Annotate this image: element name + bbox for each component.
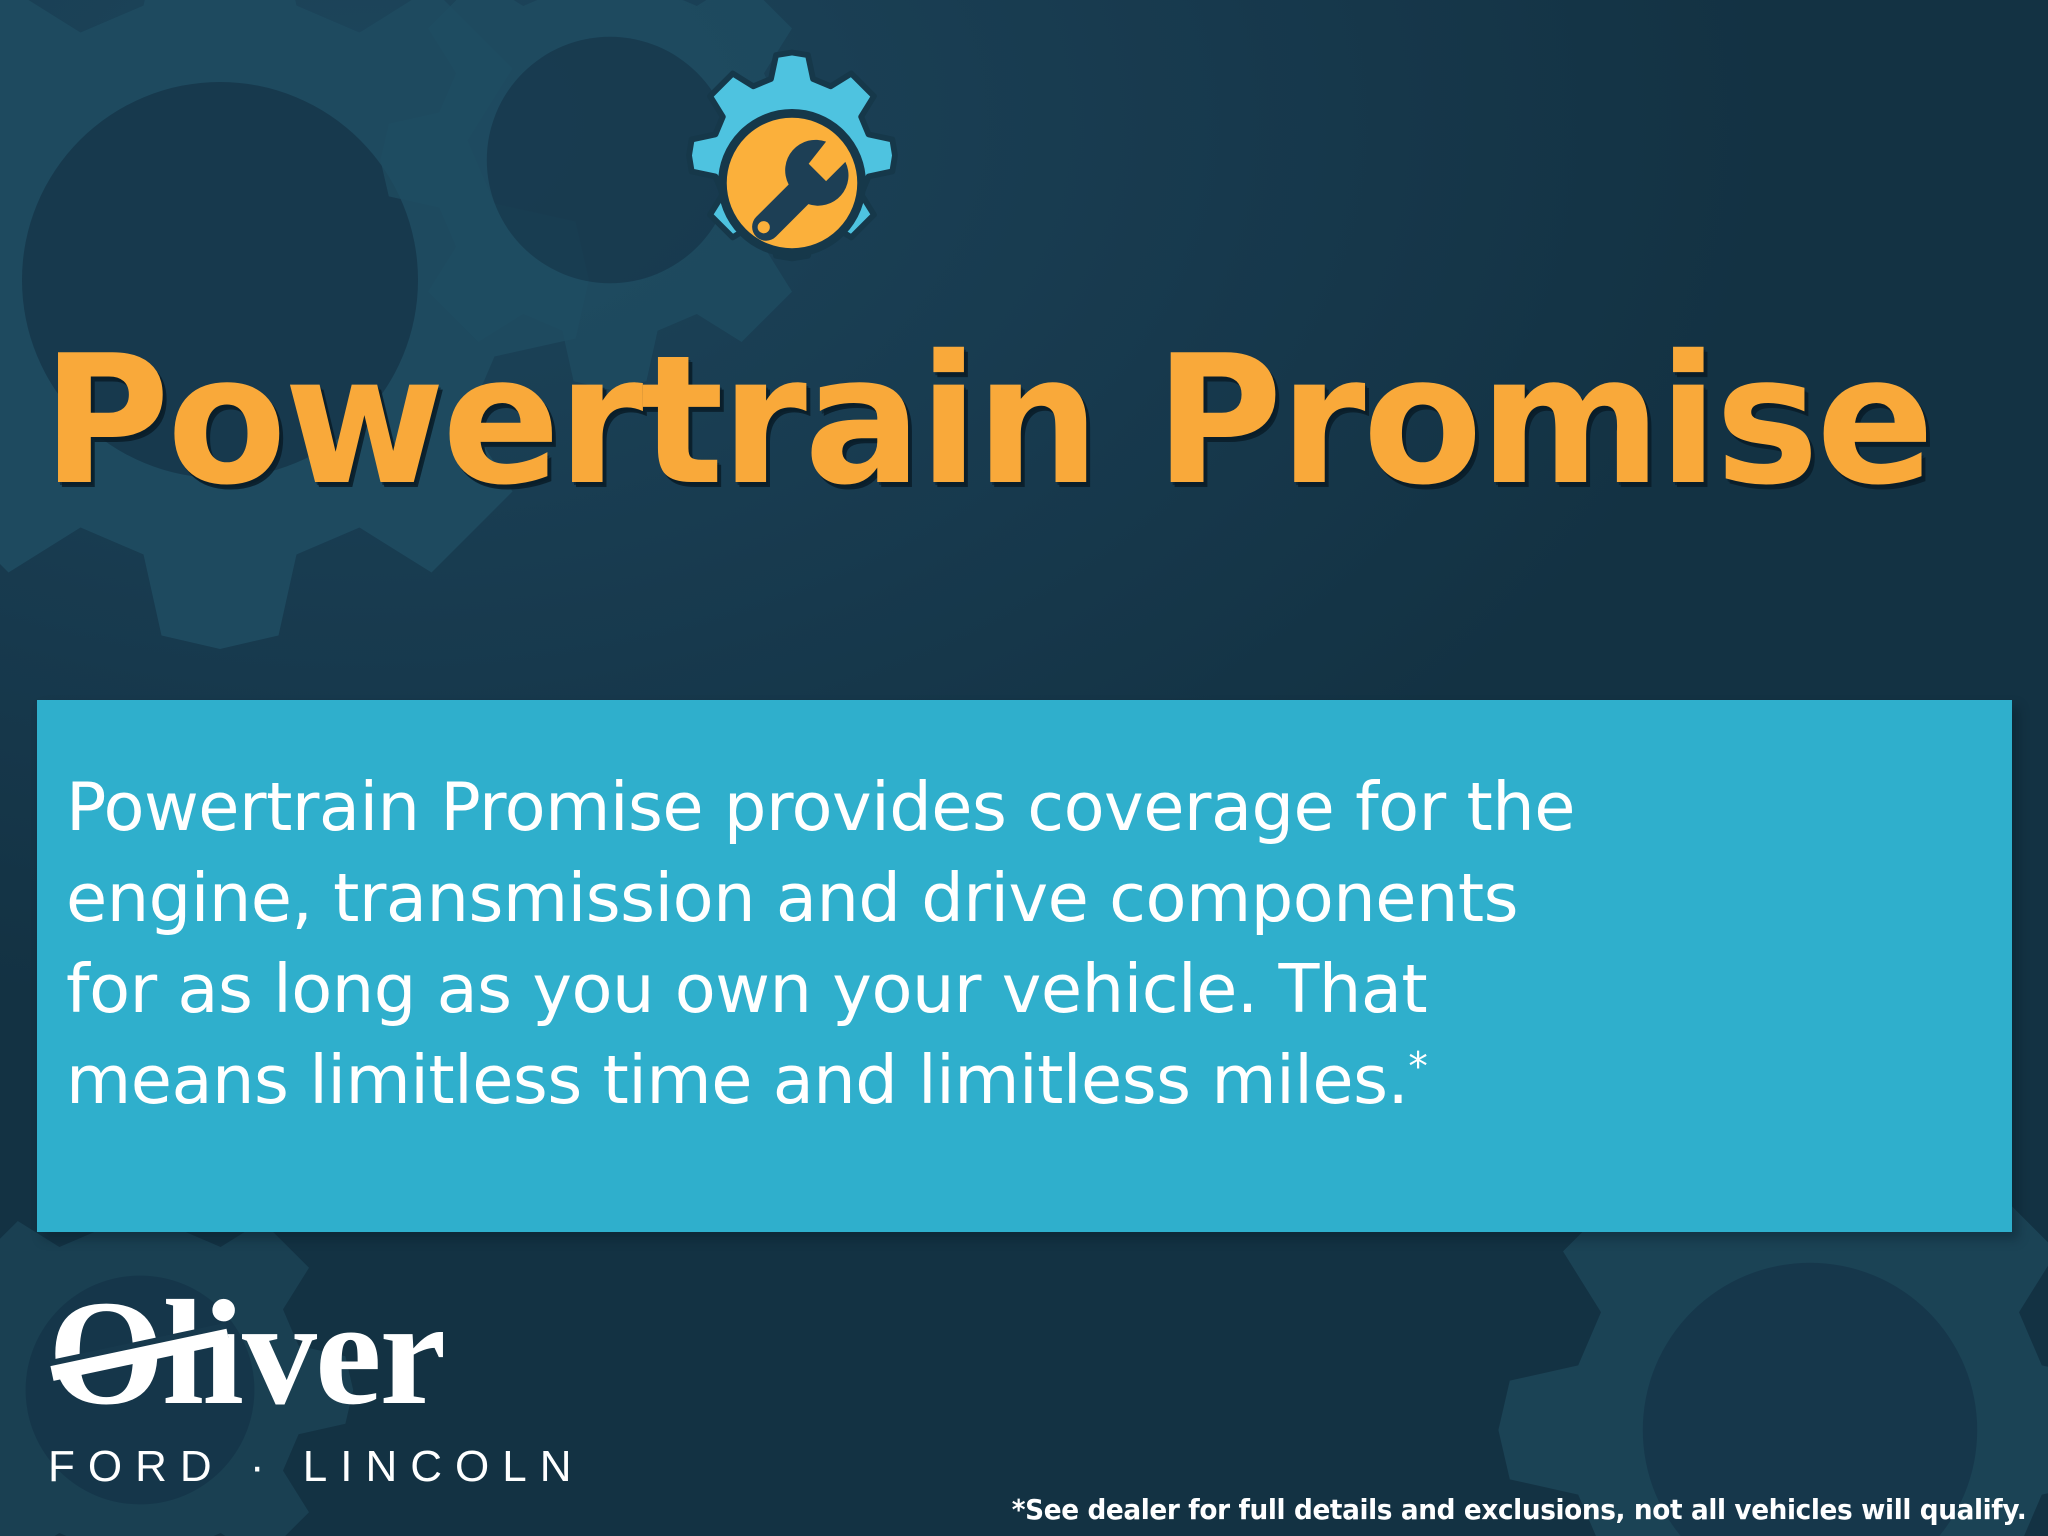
disclaimer-text: *See dealer for full details and exclusi… xyxy=(1011,1493,2026,1526)
powertrain-promise-poster: Powertrain Promise Powertrain Promise pr… xyxy=(0,0,2048,1536)
page-title: Powertrain Promise xyxy=(42,332,1992,510)
logo-subtitle: FORD · LINCOLN xyxy=(48,1442,518,1492)
description-line-4-text: means limitless time and limitless miles… xyxy=(66,1041,1408,1119)
description-line-3: for as long as you own your vehicle. Tha… xyxy=(66,944,1978,1035)
footnote-marker: * xyxy=(1408,1045,1427,1090)
gear-wrench-icon xyxy=(647,38,937,328)
description-line-2: engine, transmission and drive component… xyxy=(66,853,1978,944)
description-panel: Powertrain Promise provides coverage for… xyxy=(37,700,2012,1232)
description-text: Powertrain Promise provides coverage for… xyxy=(66,762,1978,1126)
description-line-4: means limitless time and limitless miles… xyxy=(66,1035,1978,1126)
description-line-1: Powertrain Promise provides coverage for… xyxy=(66,762,1978,853)
logo-wordmark: Oliver xyxy=(48,1278,518,1438)
dealer-logo: Oliver FORD · LINCOLN xyxy=(48,1278,518,1506)
